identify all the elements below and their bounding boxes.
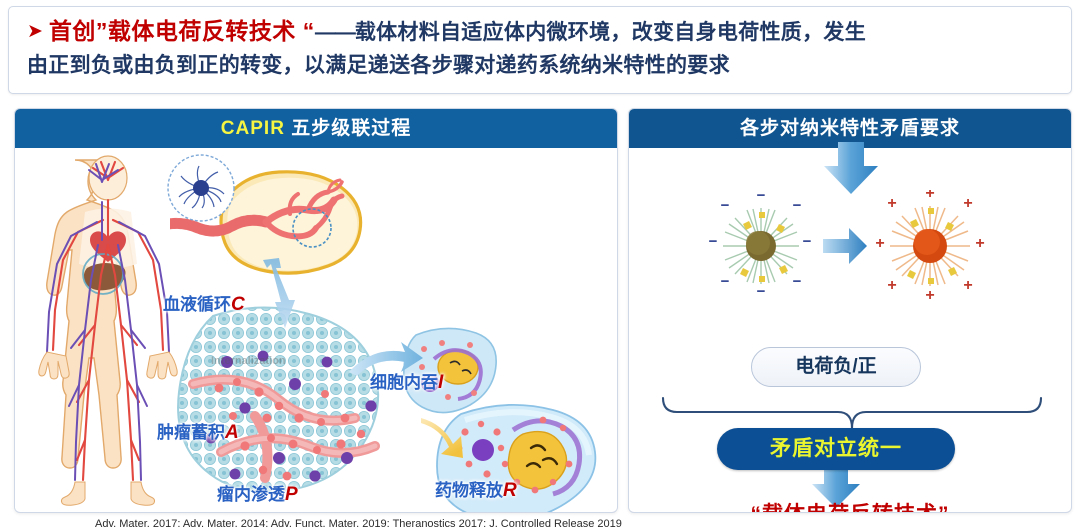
contradiction-unity-badge: 矛盾对立统一 <box>717 428 955 470</box>
svg-text:+: + <box>925 190 934 202</box>
left-panel-body: Internalization 血液循环C 肿瘤蓄积A 瘤内渗透P 细胞内吞I … <box>15 148 617 513</box>
left-panel-title-accent: CAPIR <box>221 118 285 139</box>
curly-brace-icon <box>659 394 1045 432</box>
micelle-nanoparticle-inset-icon <box>165 152 237 224</box>
header-blue-text-line1: 载体材料自适应体内微环境，改变自身电荷性质，发生 <box>355 21 866 44</box>
svg-text:−: − <box>757 283 766 299</box>
label-penetration: 瘤内渗透P <box>217 480 298 506</box>
label-internalization: 细胞内吞I <box>370 368 443 394</box>
svg-text:+: + <box>887 195 896 212</box>
svg-text:+: + <box>963 277 972 294</box>
svg-text:−: − <box>793 197 802 214</box>
charge-reversal-technology-text: “载体电荷反转技术” <box>629 498 1071 513</box>
label-release-text: 药物释放 <box>435 481 503 500</box>
svg-text:−: − <box>709 233 718 250</box>
nano-property-contradiction-panel: 各步对纳米特性矛盾要求 <box>628 108 1072 513</box>
label-circulation-letter: C <box>231 294 245 315</box>
header-blue-text-line2: 由正到负或由负到正的转变，以满足递送各步骤对递药系统纳米特性的要求 <box>27 54 730 77</box>
svg-text:+: + <box>887 277 896 294</box>
svg-text:+: + <box>963 195 972 212</box>
positive-charged-nanoparticle-icon: +++ +++ ++ <box>874 190 986 302</box>
arrow-down-icon <box>822 142 880 198</box>
arrow-right-icon <box>821 226 869 266</box>
svg-text:−: − <box>721 197 730 214</box>
charge-negative-positive-badge: 电荷负/正 <box>751 347 921 387</box>
arrow-down-right-icon <box>415 410 475 470</box>
internalization-faint-label: Internalization <box>211 355 286 367</box>
label-accumulation-text: 肿瘤蓄积 <box>157 423 225 442</box>
label-release: 药物释放R <box>435 476 517 502</box>
label-internalization-text: 细胞内吞 <box>370 373 438 392</box>
left-panel-title: CAPIR 五步级联过程 <box>15 109 617 148</box>
label-penetration-text: 瘤内渗透 <box>217 485 285 504</box>
left-panel-title-rest: 五步级联过程 <box>285 118 411 139</box>
negative-charged-nanoparticle-icon: −−− −−− −− <box>709 194 814 299</box>
header-line-2: 由正到负或由负到正的转变，以满足递送各步骤对递药系统纳米特性的要求 <box>27 50 1057 83</box>
arrow-up-left-icon <box>245 256 325 336</box>
header-banner: ➤首创”载体电荷反转技术 “——载体材料自适应体内微环境，改变自身电荷性质，发生… <box>8 6 1072 94</box>
svg-text:+: + <box>875 235 884 252</box>
header-line-1: ➤首创”载体电荷反转技术 “——载体材料自适应体内微环境，改变自身电荷性质，发生 <box>27 16 1057 50</box>
svg-text:−: − <box>803 233 812 250</box>
chevron-right-bullet-icon: ➤ <box>27 21 43 42</box>
svg-text:−: − <box>757 194 766 204</box>
right-panel-body: −−− −−− −− <box>629 148 1071 513</box>
header-red-title: 首创”载体电荷反转技术 “ <box>49 18 315 44</box>
label-accumulation: 肿瘤蓄积A <box>157 418 239 444</box>
label-penetration-letter: P <box>285 484 298 505</box>
svg-text:+: + <box>975 235 984 252</box>
svg-text:+: + <box>925 287 934 302</box>
svg-text:−: − <box>793 273 802 290</box>
label-circulation: 血液循环C <box>163 290 245 316</box>
svg-text:−: − <box>721 273 730 290</box>
header-dash: —— <box>315 21 355 44</box>
label-circulation-text: 血液循环 <box>163 295 231 314</box>
label-accumulation-letter: A <box>225 422 239 443</box>
label-internalization-letter: I <box>438 372 443 393</box>
capir-process-panel: CAPIR 五步级联过程 <box>14 108 618 513</box>
citation-line: Adv. Mater. 2017; Adv. Mater. 2014; Adv.… <box>0 513 1080 527</box>
label-release-letter: R <box>503 480 517 501</box>
